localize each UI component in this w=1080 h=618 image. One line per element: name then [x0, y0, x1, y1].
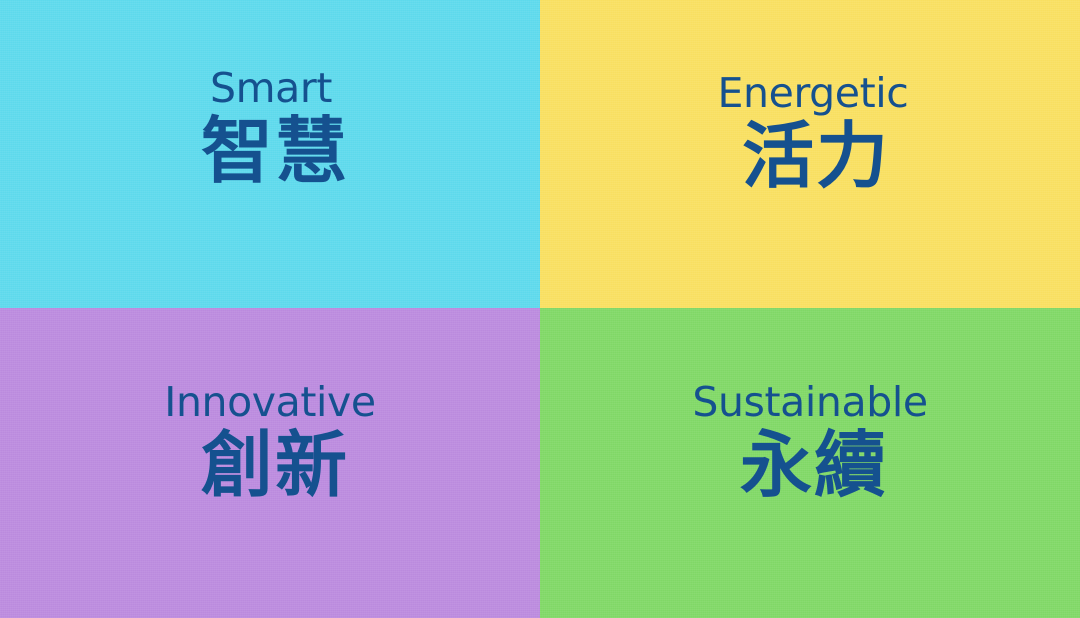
quadrant-innovative-text-block: Innovative 創新 — [164, 382, 376, 501]
quadrant-smart-text-block: Smart 智慧 — [193, 68, 349, 187]
quadrant-sustainable-label-cjk: 永續 — [740, 429, 888, 501]
quadrant-innovative-label-cjk: 創新 — [201, 429, 349, 501]
quadrant-sustainable-label-en: Sustainable — [692, 382, 927, 423]
quadrant-innovative: Innovative 創新 — [0, 308, 540, 618]
quadrant-sustainable: Sustainable 永續 — [540, 308, 1080, 618]
quadrant-smart-label-en: Smart — [210, 68, 332, 109]
quadrant-innovative-label-en: Innovative — [164, 382, 376, 423]
quadrant-energetic: Energetic 活力 — [540, 0, 1080, 308]
quadrant-energetic-text-block: Energetic 活力 — [718, 73, 909, 192]
brand-values-quadrant-grid: Smart 智慧 Energetic 活力 Innovative 創新 Sust… — [0, 0, 1080, 618]
quadrant-sustainable-text-block: Sustainable 永續 — [692, 382, 927, 501]
quadrant-energetic-label-en: Energetic — [718, 73, 909, 114]
quadrant-smart: Smart 智慧 — [0, 0, 540, 308]
quadrant-energetic-label-cjk: 活力 — [742, 120, 890, 192]
quadrant-smart-label-cjk: 智慧 — [201, 115, 349, 187]
